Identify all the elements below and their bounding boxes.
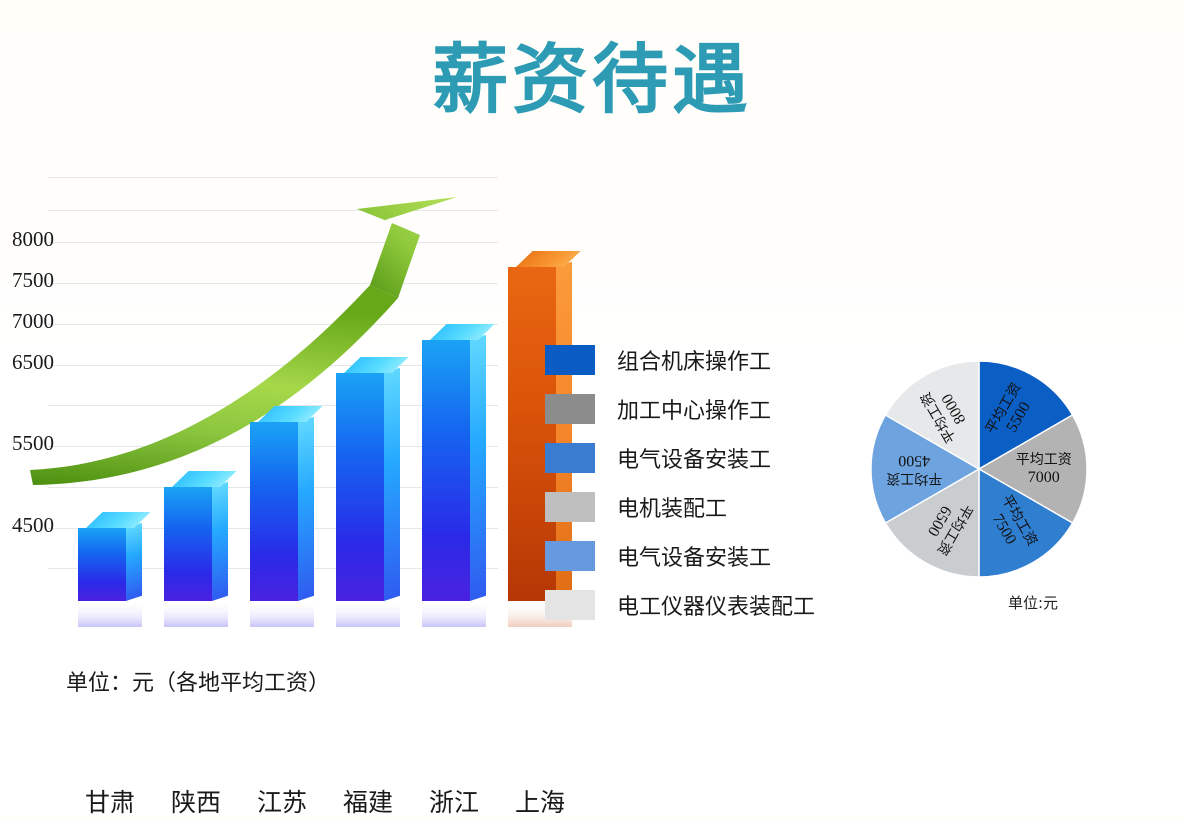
legend-color-swatch bbox=[545, 492, 595, 522]
page-title: 薪资待遇 bbox=[0, 42, 1184, 118]
bar-chart: 800075007000650055004500 甘肃陕西江苏福建 bbox=[0, 165, 510, 625]
legend-item-label: 电工仪器仪表装配工 bbox=[617, 589, 815, 621]
bar-chart-unit-note: 单位：元（各地平均工资） bbox=[66, 665, 330, 697]
legend-color-swatch bbox=[545, 443, 595, 473]
bar-side-face bbox=[126, 522, 142, 601]
legend: 组合机床操作工加工中心操作工电气设备安装工电机装配工电气设备安装工电工仪器仪表装… bbox=[545, 335, 845, 629]
bar-front-face bbox=[422, 340, 470, 601]
legend-item[interactable]: 电工仪器仪表装配工 bbox=[545, 580, 845, 629]
bar-reflection bbox=[336, 601, 400, 627]
bar-甘肃 bbox=[78, 528, 126, 601]
legend-color-swatch bbox=[545, 590, 595, 620]
bar-浙江 bbox=[422, 340, 470, 601]
pie-label-value: 7000 bbox=[1028, 469, 1060, 486]
pie-unit-label: 单位:元 bbox=[1008, 592, 1058, 613]
bar-front-face bbox=[250, 422, 298, 601]
bar-陕西 bbox=[164, 487, 212, 601]
legend-item-label: 电气设备安装工 bbox=[617, 442, 771, 474]
x-axis-label-陕西: 陕西 bbox=[157, 783, 235, 819]
bar-reflection bbox=[164, 601, 228, 627]
pie-chart: 平均工资5500平均工资7000平均工资7500平均工资6500平均工资4500… bbox=[868, 358, 1090, 580]
legend-color-swatch bbox=[545, 345, 595, 375]
bar-front-face bbox=[336, 373, 384, 601]
legend-item-label: 电机装配工 bbox=[617, 491, 727, 523]
legend-item-label: 组合机床操作工 bbox=[617, 344, 771, 376]
bar-side-face bbox=[298, 416, 314, 601]
x-axis-label-浙江: 浙江 bbox=[415, 783, 493, 819]
pie-svg: 平均工资5500平均工资7000平均工资7500平均工资6500平均工资4500… bbox=[868, 358, 1090, 580]
x-axis-label-江苏: 江苏 bbox=[243, 783, 321, 819]
legend-item-label: 加工中心操作工 bbox=[617, 393, 771, 425]
poster-canvas: 薪资待遇 800075007000650055004500 bbox=[0, 0, 1184, 816]
pie-label-prefix: 平均工资 bbox=[1016, 452, 1072, 468]
pie-label-value: 4500 bbox=[898, 452, 930, 469]
bar-reflection bbox=[250, 601, 314, 627]
x-axis-label-上海: 上海 bbox=[501, 783, 579, 819]
bar-福建 bbox=[336, 373, 384, 601]
legend-item-label: 电气设备安装工 bbox=[617, 540, 771, 572]
legend-item[interactable]: 电气设备安装工 bbox=[545, 531, 845, 580]
legend-item[interactable]: 组合机床操作工 bbox=[545, 335, 845, 384]
bar-front-face bbox=[164, 487, 212, 601]
bar-side-face bbox=[212, 482, 228, 601]
bar-reflection bbox=[78, 601, 142, 627]
bar-side-face bbox=[470, 335, 486, 601]
legend-item[interactable]: 加工中心操作工 bbox=[545, 384, 845, 433]
bar-side-face bbox=[384, 368, 400, 601]
x-axis-label-福建: 福建 bbox=[329, 783, 407, 819]
bar-reflection bbox=[422, 601, 486, 627]
x-axis-label-甘肃: 甘肃 bbox=[71, 783, 149, 819]
bar-江苏 bbox=[250, 422, 298, 601]
legend-item[interactable]: 电机装配工 bbox=[545, 482, 845, 531]
legend-color-swatch bbox=[545, 394, 595, 424]
legend-item[interactable]: 电气设备安装工 bbox=[545, 433, 845, 482]
legend-color-swatch bbox=[545, 541, 595, 571]
pie-label-prefix: 平均工资 bbox=[886, 470, 942, 486]
bar-front-face bbox=[78, 528, 126, 601]
